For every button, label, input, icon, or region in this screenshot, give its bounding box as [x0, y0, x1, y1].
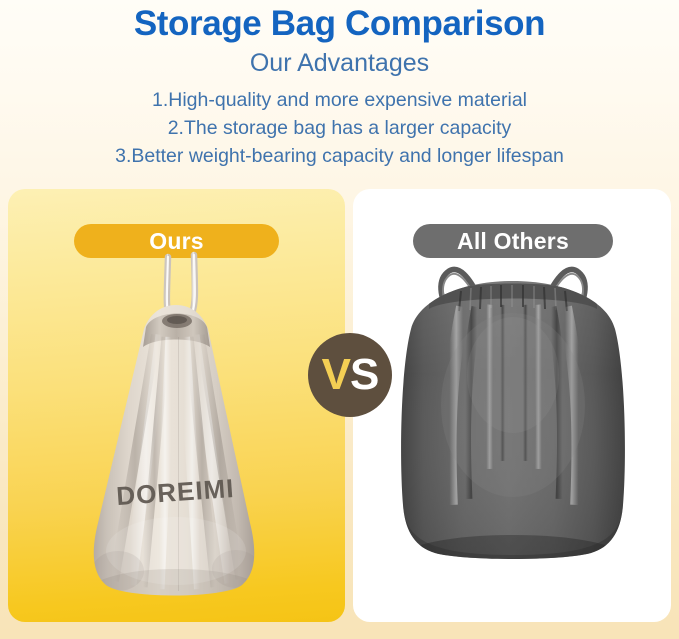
panel-ours: Ours [8, 189, 345, 622]
vs-letter-s: S [350, 353, 378, 397]
bag-image-ours: DOREIMI [58, 251, 298, 606]
bag-image-all-others [389, 255, 637, 595]
advantages-list: 1.High-quality and more expensive materi… [0, 78, 679, 170]
vs-badge: VS [308, 333, 392, 417]
header-block: Storage Bag Comparison Our Advantages 1.… [0, 0, 679, 170]
panel-all-others: All Others [353, 189, 671, 622]
advantage-item-2: 2.The storage bag has a larger capacity [0, 115, 679, 143]
page-subtitle: Our Advantages [0, 43, 679, 78]
badge-all-others: All Others [413, 224, 613, 258]
advantage-item-1: 1.High-quality and more expensive materi… [0, 87, 679, 115]
badge-all-others-label: All Others [457, 228, 569, 255]
advantage-item-3: 3.Better weight-bearing capacity and lon… [0, 143, 679, 171]
storage-bag-comparison-infographic: Storage Bag Comparison Our Advantages 1.… [0, 0, 679, 639]
page-title: Storage Bag Comparison [0, 0, 679, 43]
vs-letter-v: V [322, 353, 350, 397]
